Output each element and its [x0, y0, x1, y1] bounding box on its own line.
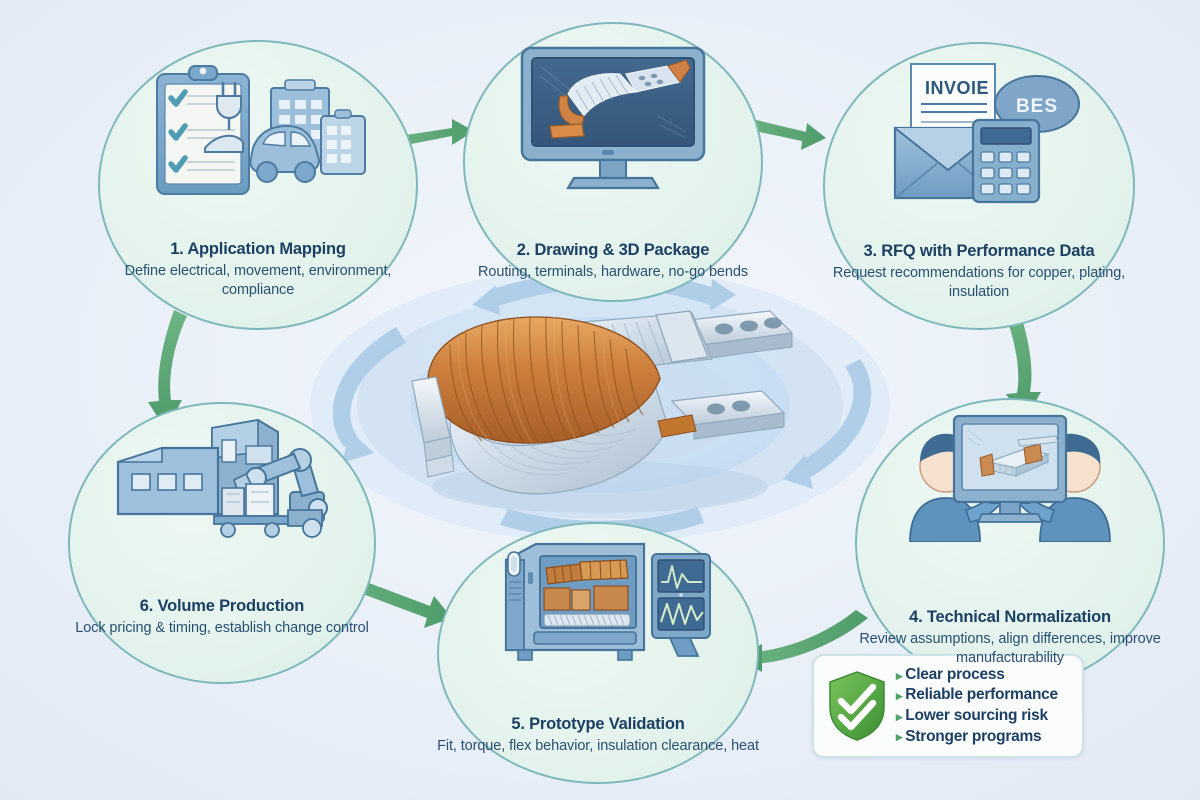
invoice-label: INVOIE	[925, 78, 989, 98]
benefit-item: ▸ Stronger programs	[896, 727, 1058, 748]
step-5-illustration	[484, 538, 712, 669]
step-2-text: 2. Drawing & 3D Package Routing, termina…	[459, 241, 767, 300]
step-2-title: 2. Drawing & 3D Package	[459, 241, 767, 260]
step-1-text: 1. Application Mapping Define electrical…	[94, 240, 423, 328]
step-4-description: Review assumptions, align differences, i…	[851, 630, 1169, 668]
step-6-title: 6. Volume Production	[64, 597, 380, 616]
step-circle-4[interactable]: 4. Technical Normalization Review assump…	[855, 398, 1165, 688]
infographic-canvas: 1. Application Mapping Define electrical…	[0, 0, 1200, 800]
step-circle-1[interactable]: 1. Application Mapping Define electrical…	[98, 40, 418, 330]
step-3-title: 3. RFQ with Performance Data	[819, 242, 1139, 261]
step-1-description: Define electrical, movement, environment…	[94, 262, 423, 300]
benefit-item: ▸ Reliable performance	[896, 685, 1058, 706]
step-2-description: Routing, terminals, hardware, no-go bend…	[459, 263, 767, 282]
bullet-icon: ▸	[896, 730, 902, 743]
step-3-description: Request recommendations for copper, plat…	[819, 264, 1139, 302]
bullet-icon: ▸	[896, 689, 902, 702]
bullet-icon: ▸	[896, 710, 902, 723]
step-5-text: 5. Prototype Validation Fit, torque, fle…	[433, 715, 764, 782]
step-5-description: Fit, torque, flex behavior, insulation c…	[433, 737, 764, 756]
benefit-label: Reliable performance	[905, 685, 1058, 706]
step-2-illustration	[508, 38, 718, 198]
step-6-description: Lock pricing & timing, establish change …	[64, 619, 380, 638]
step-5-title: 5. Prototype Validation	[433, 715, 764, 734]
step-circle-5[interactable]: 5. Prototype Validation Fit, torque, fle…	[437, 522, 759, 784]
step-1-illustration	[143, 56, 373, 211]
step-1-title: 1. Application Mapping	[94, 240, 423, 259]
step-3-illustration: INVOIE BES	[869, 58, 1089, 215]
step-circle-6[interactable]: 6. Volume Production Lock pricing & timi…	[68, 402, 376, 684]
step-4-text: 4. Technical Normalization Review assump…	[851, 608, 1169, 686]
step-4-title: 4. Technical Normalization	[851, 608, 1169, 627]
busbar-art	[412, 311, 792, 513]
step-3-text: 3. RFQ with Performance Data Request rec…	[819, 242, 1139, 328]
step-circle-3[interactable]: INVOIE BES	[823, 42, 1135, 330]
step-circle-2[interactable]: 2. Drawing & 3D Package Routing, termina…	[463, 22, 763, 302]
benefit-item: ▸ Lower sourcing risk	[896, 706, 1058, 727]
step-6-text: 6. Volume Production Lock pricing & timi…	[64, 597, 380, 682]
step-4-illustration	[892, 414, 1128, 547]
step-6-illustration	[106, 418, 338, 553]
benefit-label: Stronger programs	[905, 727, 1041, 748]
bubble-label: BES	[1016, 96, 1058, 117]
benefit-label: Lower sourcing risk	[905, 706, 1048, 727]
